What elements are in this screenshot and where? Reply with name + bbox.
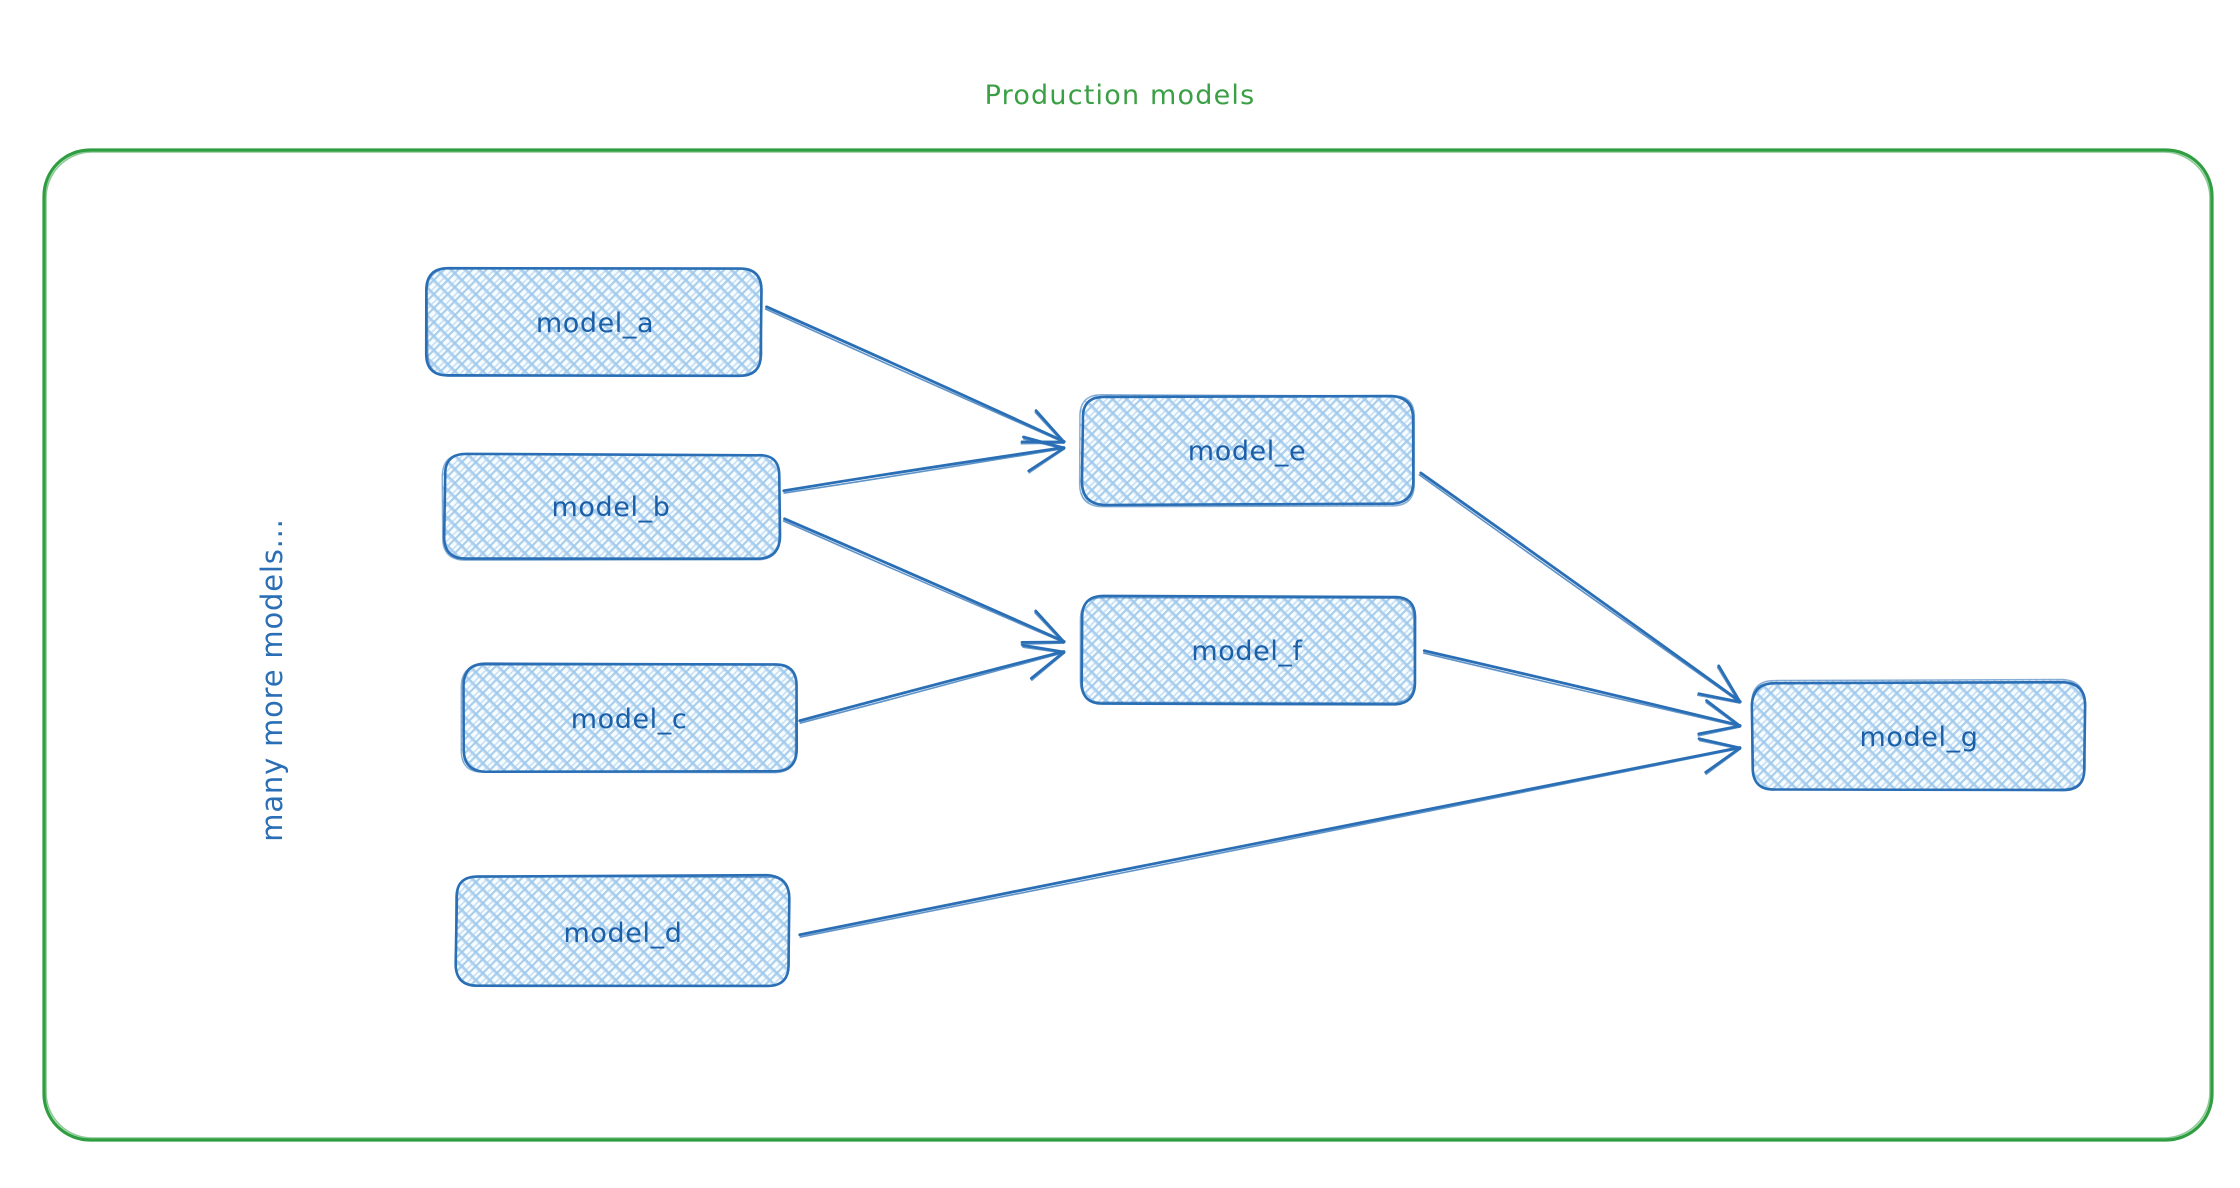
diagram-svg: Production models many more models... mo… (0, 0, 2240, 1188)
edge-line (784, 447, 1064, 490)
edge-line (784, 521, 1064, 642)
node-label-model-g: model_g (1860, 722, 1979, 753)
node-label-model-f: model_f (1191, 636, 1303, 667)
node-label-model-b: model_b (552, 492, 671, 523)
edge-model-f-model-g[interactable] (1424, 651, 1740, 736)
edge-line (800, 747, 1740, 934)
edge-arrowhead-sketch (1035, 613, 1064, 643)
edge-line (1419, 475, 1739, 702)
node-label-model-a: model_a (536, 308, 654, 339)
node-label-model-c: model_c (571, 704, 688, 735)
edge-model-c-model-f[interactable] (800, 645, 1065, 723)
edge-arrowhead-sketch (1699, 741, 1740, 749)
edge-arrowhead (1036, 411, 1064, 442)
edge-line (800, 651, 1064, 720)
edge-line (1424, 653, 1740, 726)
node-model-c[interactable]: model_c (461, 664, 796, 773)
node-model-g[interactable]: model_g (1752, 679, 2085, 790)
nodes-layer: model_amodel_bmodel_cmodel_dmodel_emodel… (426, 268, 2085, 986)
side-note-label: many more models... (255, 518, 289, 841)
edge-model-a-model-e[interactable] (766, 307, 1065, 444)
node-model-e[interactable]: model_e (1080, 395, 1415, 507)
edge-line (800, 652, 1064, 723)
edge-arrowhead-sketch (1035, 412, 1063, 443)
edge-line (1421, 473, 1741, 702)
diagram-canvas: Production models many more models... mo… (0, 0, 2240, 1188)
edge-line (785, 519, 1065, 642)
edge-model-e-model-g[interactable] (1419, 473, 1740, 703)
node-model-b[interactable]: model_b (442, 454, 780, 560)
node-label-model-d: model_d (564, 918, 683, 949)
node-model-f[interactable]: model_f (1080, 596, 1415, 705)
edge-arrowhead (1699, 739, 1740, 748)
frame-title: Production models (985, 80, 1256, 111)
edge-arrowhead (1699, 726, 1740, 734)
edge-arrowhead (1036, 611, 1064, 642)
edge-line (766, 309, 1064, 442)
node-label-model-e: model_e (1188, 436, 1306, 467)
edge-model-d-model-g[interactable] (800, 739, 1740, 937)
edge-line (784, 448, 1064, 493)
edge-arrowhead-sketch (1706, 703, 1740, 728)
edge-arrowhead (1719, 666, 1740, 702)
edge-model-b-model-e[interactable] (784, 437, 1064, 493)
edge-line (767, 307, 1065, 442)
edge-model-b-model-f[interactable] (784, 519, 1065, 644)
edge-line (800, 748, 1740, 937)
node-model-a[interactable]: model_a (426, 268, 762, 376)
node-model-d[interactable]: model_d (456, 875, 790, 986)
edge-line (1424, 651, 1740, 726)
